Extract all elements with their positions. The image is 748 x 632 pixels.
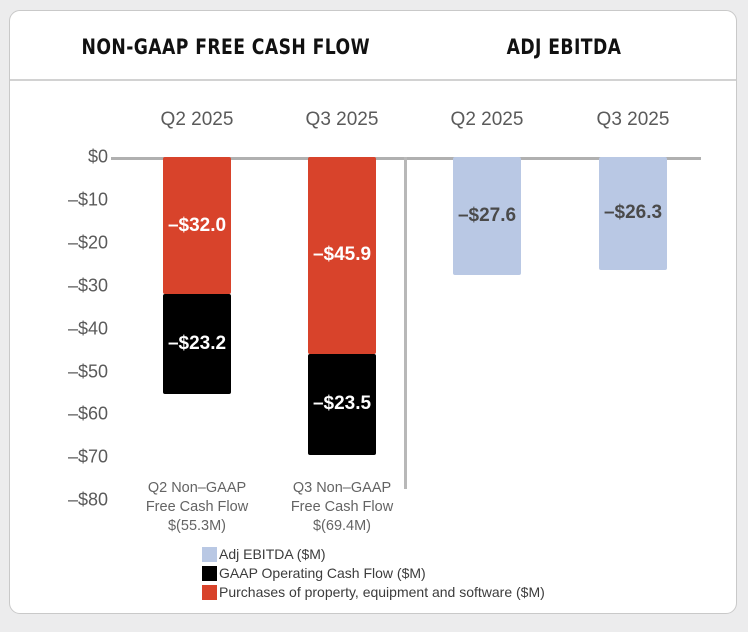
column-heading: Q3 2025 [549, 109, 717, 131]
y-axis-tick: –$80 [24, 490, 108, 511]
section-divider [404, 157, 407, 489]
y-axis-tick: $0 [24, 147, 108, 168]
legend-swatch-icon [202, 566, 217, 581]
header-title-free-cash-flow: NON-GAAP FREE CASH FLOW [82, 35, 369, 59]
bar-caption: Q3 Non–GAAPFree Cash Flow$(69.4M) [252, 479, 432, 536]
bar-value-label: –$23.2 [147, 333, 247, 355]
chart-legend: Adj EBITDA ($M)GAAP Operating Cash Flow … [202, 545, 622, 602]
header-title-adj-ebitda: ADJ EBITDA [441, 35, 687, 59]
column-heading: Q3 2025 [258, 109, 426, 131]
caption-line: Q3 Non–GAAP [252, 479, 432, 498]
column-heading: Q2 2025 [403, 109, 571, 131]
legend-item[interactable]: GAAP Operating Cash Flow ($M) [202, 564, 622, 582]
legend-label: Purchases of property, equipment and sof… [219, 584, 545, 600]
bar-value-label: –$27.6 [437, 205, 537, 227]
bar-value-label: –$26.3 [583, 202, 683, 224]
caption-line: $(69.4M) [252, 517, 432, 536]
legend-item[interactable]: Purchases of property, equipment and sof… [202, 583, 622, 601]
y-axis-tick: –$40 [24, 318, 108, 339]
y-axis-tick: –$50 [24, 361, 108, 382]
bar-value-label: –$32.0 [147, 215, 247, 237]
caption-line: Free Cash Flow [252, 498, 432, 517]
legend-swatch-icon [202, 547, 217, 562]
chart-header: NON-GAAP FREE CASH FLOW ADJ EBITDA [10, 11, 736, 81]
legend-item[interactable]: Adj EBITDA ($M) [202, 545, 622, 563]
legend-swatch-icon [202, 585, 217, 600]
y-axis: $0–$10–$20–$30–$40–$50–$60–$70–$80 [16, 81, 108, 613]
plot-area: $0–$10–$20–$30–$40–$50–$60–$70–$80 –$32.… [10, 81, 736, 613]
legend-label: GAAP Operating Cash Flow ($M) [219, 565, 426, 581]
y-axis-tick: –$70 [24, 447, 108, 468]
chart-screenshot: NON-GAAP FREE CASH FLOW ADJ EBITDA $0–$1… [0, 0, 748, 632]
bar-value-label: –$45.9 [292, 244, 392, 266]
bar-value-label: –$23.5 [292, 393, 392, 415]
chart-card: NON-GAAP FREE CASH FLOW ADJ EBITDA $0–$1… [9, 10, 737, 614]
legend-label: Adj EBITDA ($M) [219, 546, 326, 562]
y-axis-tick: –$10 [24, 189, 108, 210]
y-axis-tick: –$30 [24, 275, 108, 296]
y-axis-tick: –$60 [24, 404, 108, 425]
y-axis-tick: –$20 [24, 232, 108, 253]
column-heading: Q2 2025 [113, 109, 281, 131]
